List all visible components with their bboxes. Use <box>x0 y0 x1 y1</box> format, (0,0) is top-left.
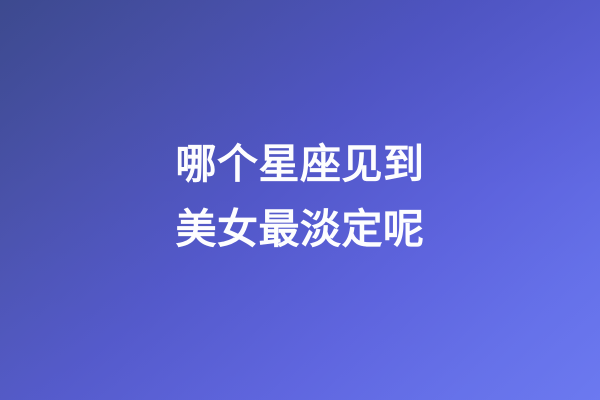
banner-canvas: 哪个星座见到 美女最淡定呢 <box>0 0 600 400</box>
headline-line-2: 美女最淡定呢 <box>0 197 600 262</box>
headline-line-1: 哪个星座见到 <box>0 132 600 197</box>
headline-text-block: 哪个星座见到 美女最淡定呢 <box>0 132 600 262</box>
